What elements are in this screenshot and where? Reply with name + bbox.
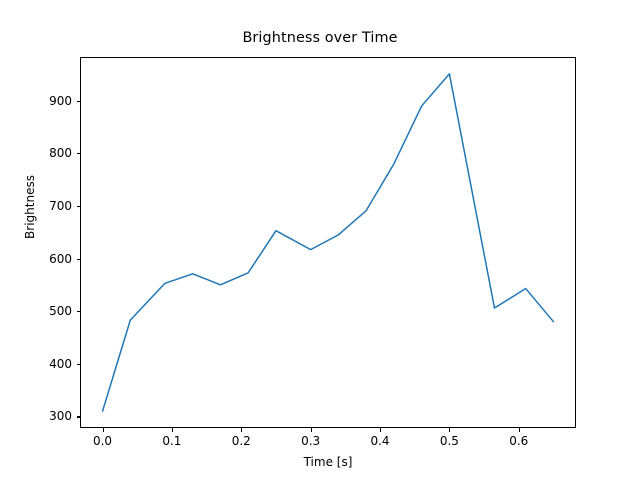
x-tick-label: 0.6 xyxy=(509,434,528,448)
y-tick-mark xyxy=(77,311,81,312)
x-tick-mark xyxy=(380,428,381,432)
x-tick-label: 0.2 xyxy=(232,434,251,448)
y-tick-mark xyxy=(77,206,81,207)
y-tick-mark xyxy=(77,259,81,260)
y-tick-mark xyxy=(77,101,81,102)
y-axis-label: Brightness xyxy=(23,107,37,307)
x-axis-label: Time [s] xyxy=(80,455,576,469)
figure-canvas: Brightness over Time 3004005006007008009… xyxy=(0,0,640,480)
chart-title: Brightness over Time xyxy=(0,30,640,46)
y-tick-label: 300 xyxy=(30,409,72,423)
y-tick-mark xyxy=(77,416,81,417)
x-tick-mark xyxy=(449,428,450,432)
x-tick-label: 0.1 xyxy=(162,434,181,448)
plot-axes-frame xyxy=(80,57,576,428)
x-tick-mark xyxy=(311,428,312,432)
y-tick-mark xyxy=(77,364,81,365)
y-tick-label: 900 xyxy=(30,94,72,108)
x-tick-label: 0.5 xyxy=(440,434,459,448)
x-tick-mark xyxy=(103,428,104,432)
x-tick-label: 0.4 xyxy=(370,434,389,448)
y-tick-mark xyxy=(77,153,81,154)
x-tick-mark xyxy=(519,428,520,432)
x-tick-mark xyxy=(241,428,242,432)
x-tick-label: 0.0 xyxy=(93,434,112,448)
x-tick-mark xyxy=(172,428,173,432)
x-tick-label: 0.3 xyxy=(301,434,320,448)
y-tick-label: 400 xyxy=(30,357,72,371)
